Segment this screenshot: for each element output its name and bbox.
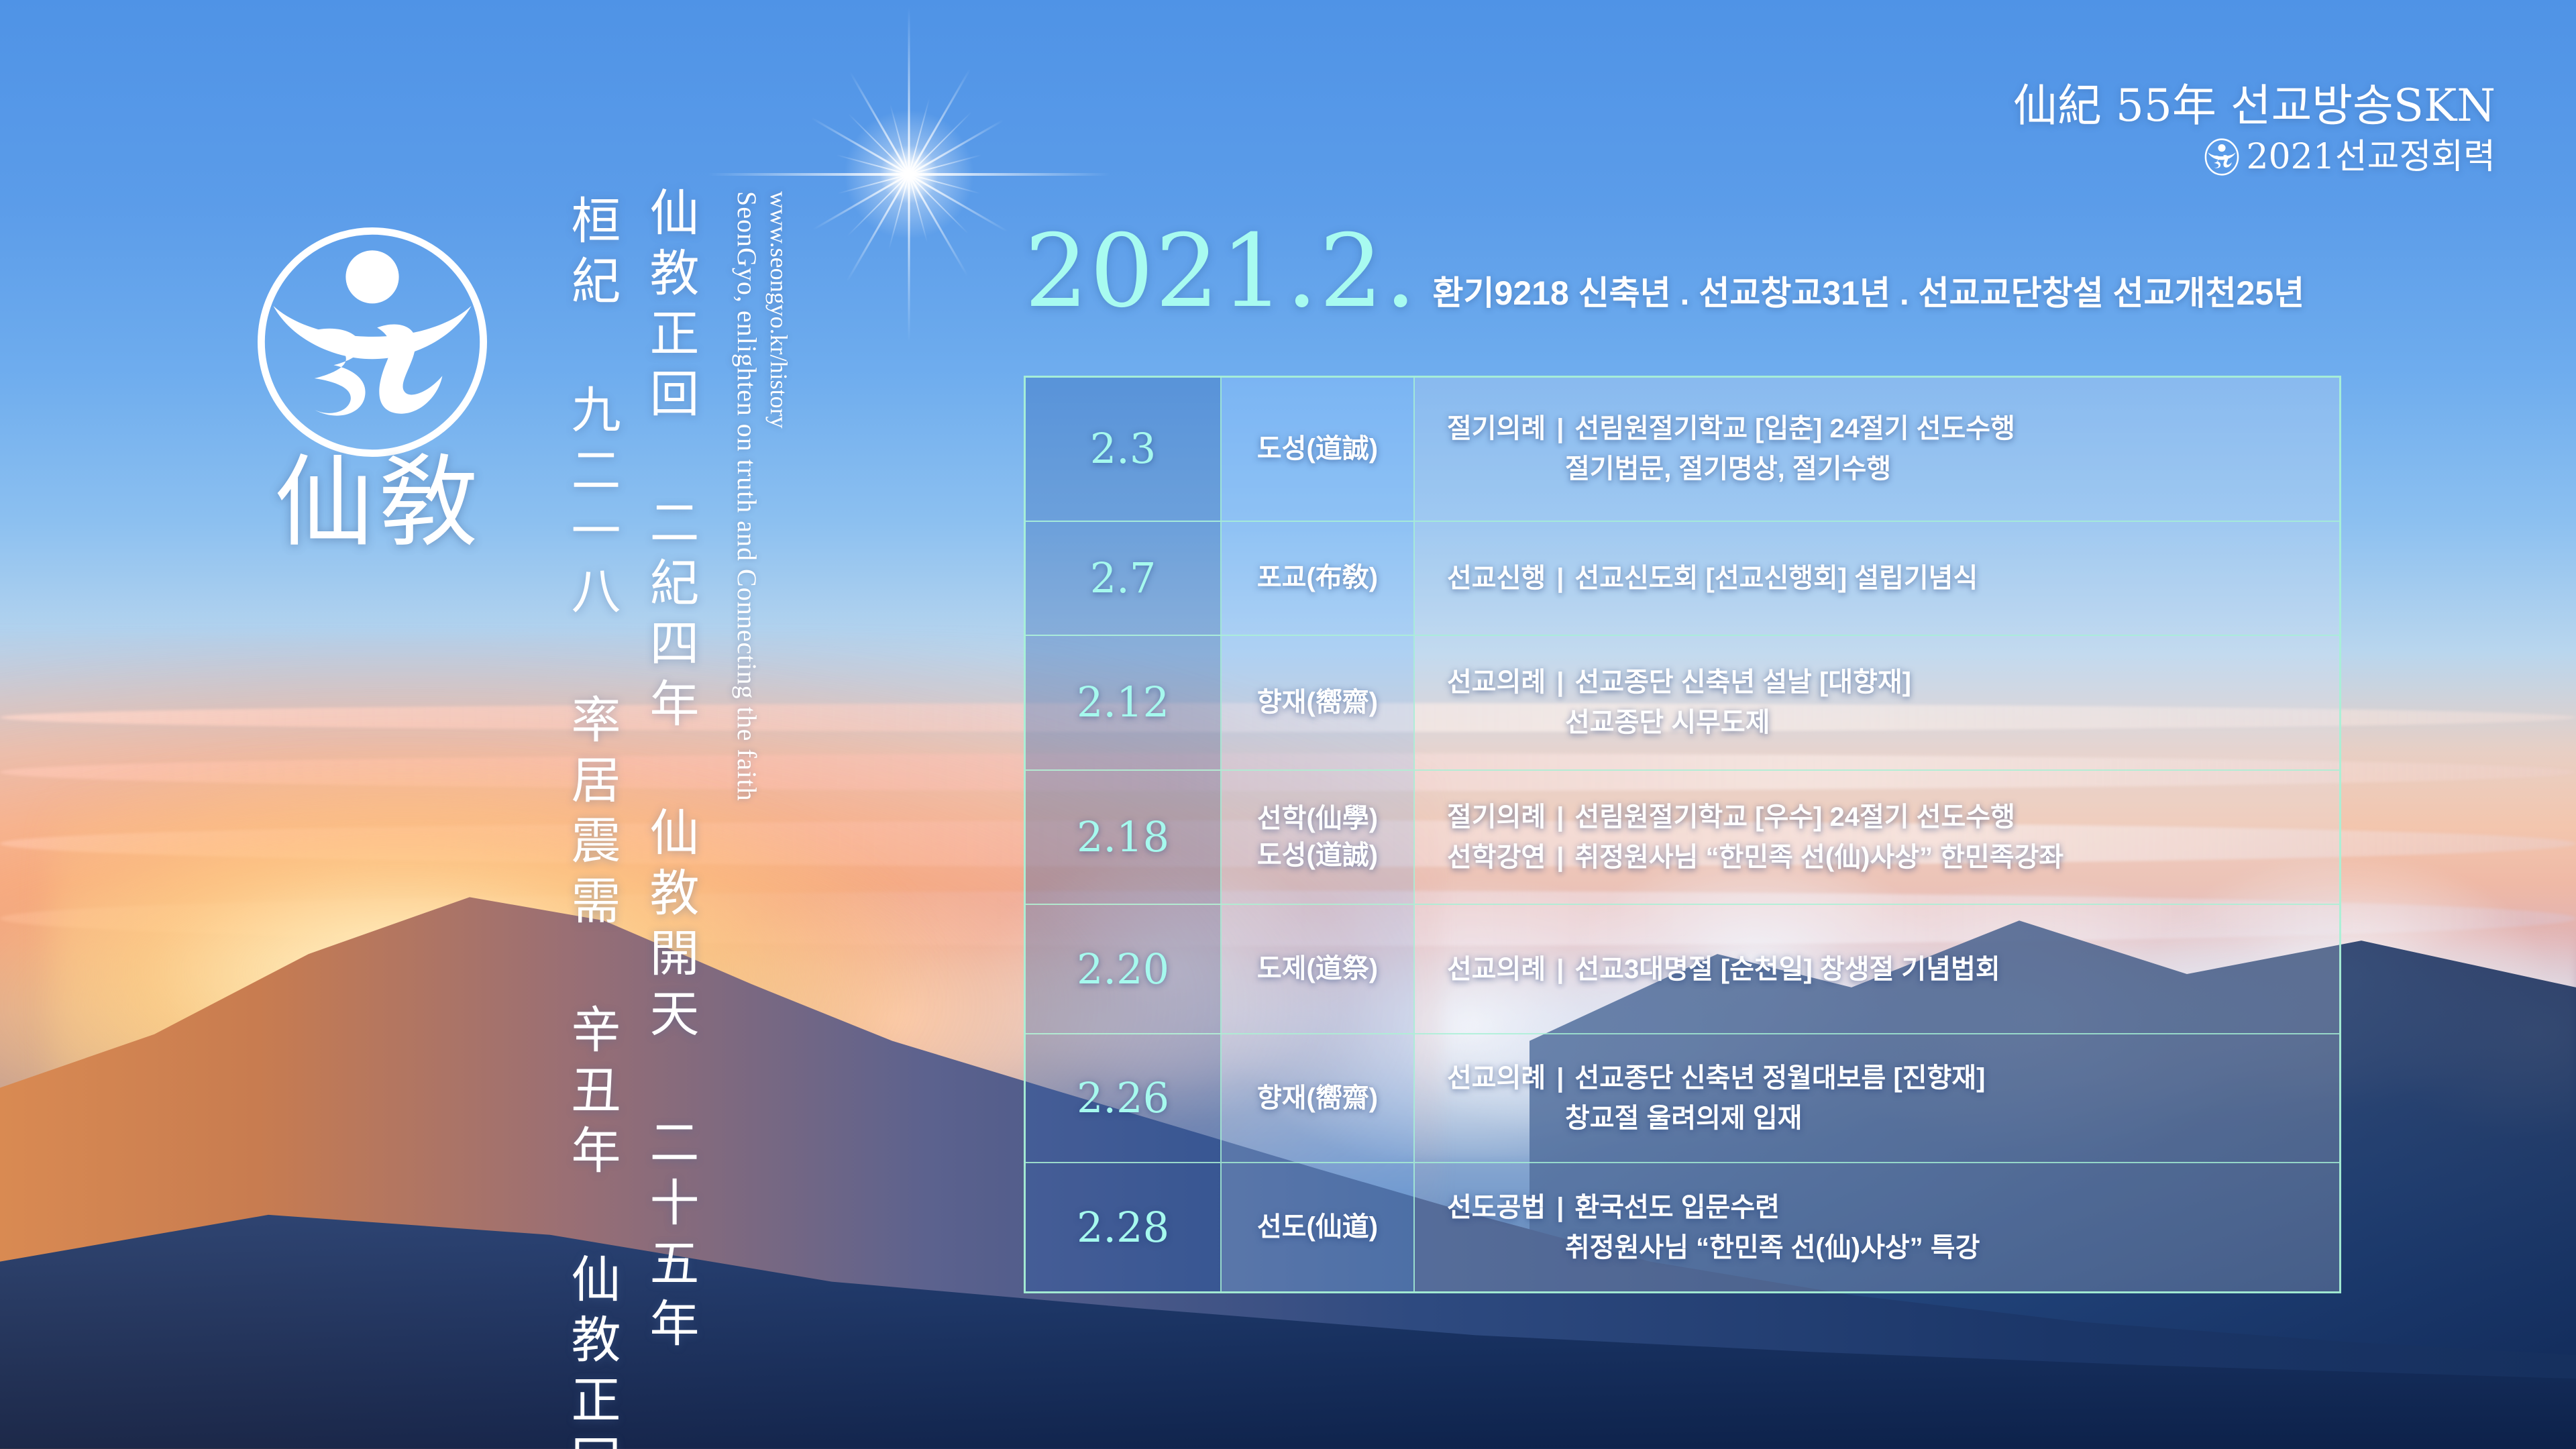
description-line: 선도공법|환국선도 입문수련 (1447, 1187, 2339, 1228)
row-date: 2.12 (1026, 636, 1222, 769)
table-row[interactable]: 2.7포교(布敎)선교신행|선교신도회 [선교신행회] 설립기념식 (1026, 522, 2339, 637)
table-row[interactable]: 2.3도성(道誠)절기의례|선림원절기학교 [입춘] 24절기 선도수행절기법문… (1026, 378, 2339, 522)
table-row[interactable]: 2.20도제(道祭)선교의례|선교3대명절 [순천일] 창생절 기념법회 (1026, 905, 2339, 1034)
separator-bar: | (1556, 797, 1564, 837)
separator-bar: | (1556, 837, 1564, 877)
description-tag: 절기의례 (1447, 797, 1546, 837)
title-subtitle: 환기9218 신축년 . 선교창교31년 . 선교교단창설 선교개천25년 (1433, 276, 2305, 310)
description-line: 절기의례|선림원절기학교 [우수] 24절기 선도수행 (1447, 797, 2339, 837)
row-date: 2.18 (1026, 771, 1222, 904)
category-label: 선학(仙學) (1257, 800, 1378, 837)
description-line: 선교의례|선교3대명절 [순천일] 창생절 기념법회 (1447, 949, 2339, 989)
category-label: 선도(仙道) (1257, 1209, 1378, 1246)
description-text: 선교3대명절 [순천일] 창생절 기념법회 (1574, 955, 2000, 984)
separator-bar: | (1556, 1187, 1564, 1228)
header-block: 仙紀 55年 선교방송SKN 2021선교정회력 (2013, 80, 2495, 178)
category-label: 포교(布敎) (1257, 559, 1378, 596)
row-category: 포교(布敎) (1222, 522, 1415, 635)
category-label: 도성(道誠) (1257, 837, 1378, 874)
table-row[interactable]: 2.28선도(仙道)선도공법|환국선도 입문수련취정원사님 “한민족 선(仙)사… (1026, 1163, 2339, 1291)
description-line: 선교의례|선교종단 신축년 정월대보름 [진향재] (1447, 1058, 2339, 1098)
row-description: 선교의례|선교종단 신축년 설날 [대향재]선교종단 시무도제 (1415, 636, 2339, 769)
row-date: 2.3 (1026, 378, 1222, 521)
description-line: 창교절 울려의제 입재 (1447, 1098, 2339, 1138)
description-line: 절기법문, 절기명상, 절기수행 (1447, 449, 2339, 489)
description-line: 취정원사님 “한민족 선(仙)사상” 특강 (1447, 1228, 2339, 1268)
description-text: 선림원절기학교 [우수] 24절기 선도수행 (1574, 802, 2015, 832)
description-tag: 선도공법 (1447, 1187, 1546, 1228)
vertical-hanja-outer: 桓紀 九二一八 率居震需 辛丑年 仙教正回曆 (567, 195, 616, 1449)
description-tag: 선교의례 (1447, 949, 1546, 989)
row-date: 2.7 (1026, 522, 1222, 635)
description-text: 창교절 울려의제 입재 (1565, 1104, 1802, 1133)
table-row[interactable]: 2.26향재(嚮齋)선교의례|선교종단 신축년 정월대보름 [진향재]창교절 울… (1026, 1034, 2339, 1164)
row-description: 선도공법|환국선도 입문수련취정원사님 “한민족 선(仙)사상” 특강 (1415, 1163, 2339, 1291)
separator-bar: | (1556, 409, 1564, 449)
vertical-tagline: SeonGyo, enlighten on truth and Connecti… (731, 191, 763, 802)
description-text: 선림원절기학교 [입춘] 24절기 선도수행 (1574, 414, 2015, 443)
description-text: 절기법문, 절기명상, 절기수행 (1565, 454, 1891, 484)
month-title-row: 2021.2. 환기9218 신축년 . 선교창교31년 . 선교교단창설 선교… (1024, 221, 2304, 322)
row-category: 선도(仙道) (1222, 1163, 1415, 1291)
row-description: 절기의례|선림원절기학교 [우수] 24절기 선도수행선학강연|취정원사님 “한… (1415, 771, 2339, 904)
description-text: 선교종단 시무도제 (1565, 708, 1770, 737)
vertical-website-url[interactable]: www.seongyo.kr/history (765, 191, 793, 429)
header-subtitle-row: 2021선교정회력 (2013, 136, 2495, 178)
row-date: 2.26 (1026, 1034, 1222, 1163)
description-tag: 절기의례 (1447, 409, 1546, 449)
description-tag: 선교의례 (1447, 1058, 1546, 1098)
category-label: 도제(道祭) (1257, 951, 1378, 987)
page-title: 2021.2. (1024, 221, 1418, 322)
row-description: 선교의례|선교종단 신축년 정월대보름 [진향재]창교절 울려의제 입재 (1415, 1034, 2339, 1163)
row-description: 선교신행|선교신도회 [선교신행회] 설립기념식 (1415, 522, 2339, 635)
seongyo-logo: 仙敎 (238, 221, 520, 597)
table-row[interactable]: 2.12향재(嚮齋)선교의례|선교종단 신축년 설날 [대향재]선교종단 시무도… (1026, 636, 2339, 771)
row-category: 향재(嚮齋) (1222, 636, 1415, 769)
seongyo-emblem-icon (252, 221, 493, 463)
category-label: 도성(道誠) (1257, 431, 1378, 468)
row-description: 절기의례|선림원절기학교 [입춘] 24절기 선도수행절기법문, 절기명상, 절… (1415, 378, 2339, 521)
separator-bar: | (1556, 1058, 1564, 1098)
row-category: 선학(仙學)도성(道誠) (1222, 771, 1415, 904)
category-label: 향재(嚮齋) (1257, 1080, 1378, 1117)
row-category: 도성(道誠) (1222, 378, 1415, 521)
category-label: 향재(嚮齋) (1257, 684, 1378, 721)
description-line: 선교의례|선교종단 신축년 설날 [대향재] (1447, 662, 2339, 702)
row-description: 선교의례|선교3대명절 [순천일] 창생절 기념법회 (1415, 905, 2339, 1033)
row-date: 2.20 (1026, 905, 1222, 1033)
header-title: 仙紀 55年 선교방송SKN (2013, 80, 2495, 132)
poster-canvas: (function(){ var b=document.currentScrip… (0, 0, 2576, 1449)
description-line: 선교신행|선교신도회 [선교신행회] 설립기념식 (1447, 558, 2339, 598)
description-text: 취정원사님 “한민족 선(仙)사상” 특강 (1565, 1233, 1980, 1263)
calendar-table: 2.3도성(道誠)절기의례|선림원절기학교 [입춘] 24절기 선도수행절기법문… (1024, 376, 2341, 1293)
description-text: 선교신도회 [선교신행회] 설립기념식 (1574, 563, 1978, 593)
description-text: 취정원사님 “한민족 선(仙)사상” 한민족강좌 (1574, 843, 2063, 872)
logo-kanji: 仙敎 (238, 453, 520, 552)
description-line: 절기의례|선림원절기학교 [입춘] 24절기 선도수행 (1447, 409, 2339, 449)
row-category: 향재(嚮齋) (1222, 1034, 1415, 1163)
description-line: 선학강연|취정원사님 “한민족 선(仙)사상” 한민족강좌 (1447, 837, 2339, 877)
separator-bar: | (1556, 558, 1564, 598)
table-row[interactable]: 2.18선학(仙學)도성(道誠)절기의례|선림원절기학교 [우수] 24절기 선… (1026, 771, 2339, 906)
row-category: 도제(道祭) (1222, 905, 1415, 1033)
header-subtitle: 2021선교정회력 (2246, 136, 2495, 178)
description-tag: 선학강연 (1447, 837, 1546, 877)
description-tag: 선교의례 (1447, 662, 1546, 702)
description-tag: 선교신행 (1447, 558, 1546, 598)
separator-bar: | (1556, 662, 1564, 702)
row-date: 2.28 (1026, 1163, 1222, 1291)
seongyo-emblem-icon (2203, 138, 2241, 176)
description-text: 선교종단 신축년 정월대보름 [진향재] (1574, 1063, 1985, 1093)
separator-bar: | (1556, 949, 1564, 989)
description-text: 환국선도 입문수련 (1574, 1193, 1780, 1222)
description-text: 선교종단 신축년 설날 [대향재] (1574, 667, 1911, 697)
description-line: 선교종단 시무도제 (1447, 702, 2339, 743)
vertical-hanja-inner: 仙教正回 二紀四年 仙教開天 二十五年 (645, 186, 695, 1358)
